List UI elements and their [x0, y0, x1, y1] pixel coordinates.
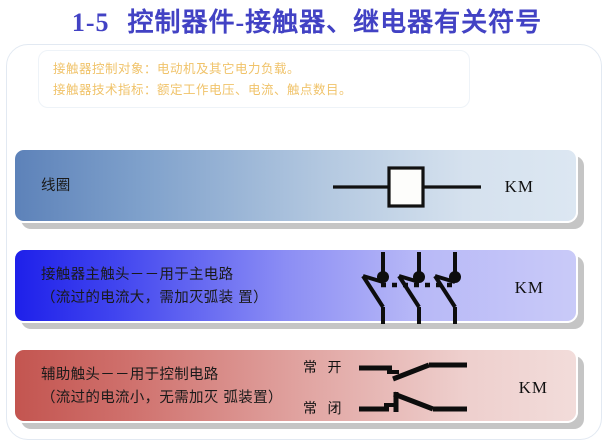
panel-main-label-line-1: 接触器主触头－－用于主电路 [41, 264, 268, 287]
title-number: 1-5 [72, 8, 110, 37]
normally-closed-label: 常 闭 [303, 398, 344, 418]
panel-main-contacts[interactable]: 接触器主触头－－用于主电路 （流过的电流大，需加灭弧装 置） [13, 248, 578, 323]
subtitle-box: 接触器控制对象：电动机及其它电力负载。 接触器技术指标：额定工作电压、电流、触点… [38, 50, 470, 108]
panel-aux-label-line-1: 辅助触头－－用于控制电路 [41, 364, 283, 387]
panel-aux-label-line-2: （流过的电流小，无需加灭 弧装置） [41, 387, 283, 410]
three-pole-contact-icon [361, 252, 471, 324]
panel-coil[interactable]: 线圈 KM [13, 148, 578, 223]
panel-coil-label: 线圈 [41, 175, 71, 198]
panel-aux-label: 辅助触头－－用于控制电路 （流过的电流小，无需加灭 弧装置） [41, 364, 283, 410]
panel-main-label: 接触器主触头－－用于主电路 （流过的电流大，需加灭弧装 置） [41, 264, 268, 310]
panel-main-designator: KM [515, 278, 544, 298]
auxiliary-contacts-icon: 常 开 常 闭 [303, 354, 518, 422]
panel-coil-designator: KM [505, 177, 534, 197]
page-title: 1-5控制器件-接触器、继电器有关符号 [0, 2, 614, 39]
panel-aux-contacts[interactable]: 辅助触头－－用于控制电路 （流过的电流小，无需加灭 弧装置） 常 开 常 闭 K… [13, 348, 578, 423]
coil-rectangle-icon [331, 162, 491, 212]
normally-open-label: 常 开 [303, 357, 344, 377]
subtitle-line-1: 接触器控制对象：电动机及其它电力负载。 [53, 58, 469, 79]
panel-aux-designator: KM [519, 378, 548, 398]
panel-main-label-line-2: （流过的电流大，需加灭弧装 置） [41, 287, 268, 310]
title-text: 控制器件-接触器、继电器有关符号 [128, 8, 543, 37]
subtitle-line-2: 接触器技术指标：额定工作电压、电流、触点数目。 [53, 79, 469, 100]
